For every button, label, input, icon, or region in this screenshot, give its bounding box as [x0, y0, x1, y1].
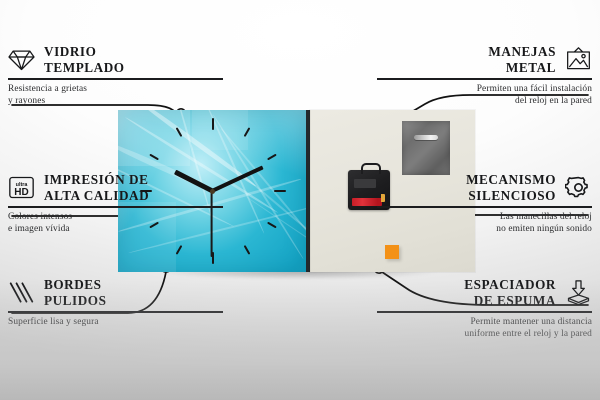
feature-divider	[8, 206, 223, 207]
feature-title-line2: TEMPLADO	[44, 60, 125, 76]
feature-title-line1: BORDES	[44, 277, 106, 293]
feature-divider	[377, 311, 592, 312]
feature-sub-line2: y rayones	[8, 95, 223, 107]
feature-title-line1: ESPACIADOR	[464, 277, 556, 293]
down-arrow-pad-icon	[565, 280, 592, 305]
feature-impresion-alta-calidad: ultra HD IMPRESIÓN DE ALTA CALIDAD Color…	[8, 172, 223, 235]
feature-sub-line2: no emiten ningún sonido	[377, 223, 592, 235]
feature-title-line1: MANEJAS	[488, 44, 556, 60]
feature-sub-line1: Las manecillas del reloj	[377, 211, 592, 223]
feature-espaciador-espuma: ESPACIADOR DE ESPUMA Permite mantener un…	[377, 277, 592, 340]
feature-header: ultra HD IMPRESIÓN DE ALTA CALIDAD	[8, 172, 223, 205]
feature-title-line1: IMPRESIÓN DE	[44, 172, 149, 188]
feature-manejas-metal: MANEJAS METAL Permiten una fácil instala…	[377, 44, 592, 107]
feature-sub-line1: Superficie lisa y segura	[8, 316, 223, 328]
feature-vidrio-templado: VIDRIO TEMPLADO Resistencia a grietas y …	[8, 44, 223, 107]
diagonal-lines-icon	[8, 280, 35, 305]
feature-sub-line2: e imagen vívida	[8, 223, 223, 235]
gear-icon	[565, 175, 592, 200]
picture-frame-hook-icon	[565, 47, 592, 72]
feature-divider	[377, 78, 592, 79]
feature-header: MECANISMO SILENCIOSO	[377, 172, 592, 205]
feature-header: ESPACIADOR DE ESPUMA	[377, 277, 592, 310]
metal-hanger-plate	[402, 121, 450, 175]
feature-title-line2: DE ESPUMA	[464, 293, 556, 309]
feature-divider	[377, 206, 592, 207]
infographic-canvas: VIDRIO TEMPLADO Resistencia a grietas y …	[0, 0, 600, 400]
feature-sub-line2: del reloj en la pared	[377, 95, 592, 107]
feature-sub-line1: Permiten una fácil instalación	[377, 83, 592, 95]
svg-text:HD: HD	[14, 187, 28, 198]
diamond-icon	[8, 47, 35, 72]
feature-title-line2: PULIDOS	[44, 293, 106, 309]
feature-header: BORDES PULIDOS	[8, 277, 223, 310]
feature-sub-line1: Resistencia a grietas	[8, 83, 223, 95]
mechanism-detail	[354, 179, 376, 188]
feature-sub-line2: uniforme entre el reloj y la pared	[377, 328, 592, 340]
feature-title-line1: MECANISMO	[466, 172, 556, 188]
hanger-slot	[414, 135, 438, 140]
feature-header: MANEJAS METAL	[377, 44, 592, 77]
feature-title-line2: METAL	[488, 60, 556, 76]
feature-divider	[8, 78, 223, 79]
feature-title-line2: SILENCIOSO	[466, 188, 556, 204]
feature-title-line1: VIDRIO	[44, 44, 125, 60]
ultra-hd-icon: ultra HD	[8, 175, 35, 200]
feature-bordes-pulidos: BORDES PULIDOS Superficie lisa y segura	[8, 277, 223, 328]
feature-mecanismo-silencioso: MECANISMO SILENCIOSO Las manecillas del …	[377, 172, 592, 235]
feature-title-line2: ALTA CALIDAD	[44, 188, 149, 204]
foam-spacer	[385, 245, 399, 259]
feature-divider	[8, 311, 223, 312]
feature-header: VIDRIO TEMPLADO	[8, 44, 223, 77]
feature-sub-line1: Colores intensos	[8, 211, 223, 223]
feature-sub-line1: Permite mantener una distancia	[377, 316, 592, 328]
